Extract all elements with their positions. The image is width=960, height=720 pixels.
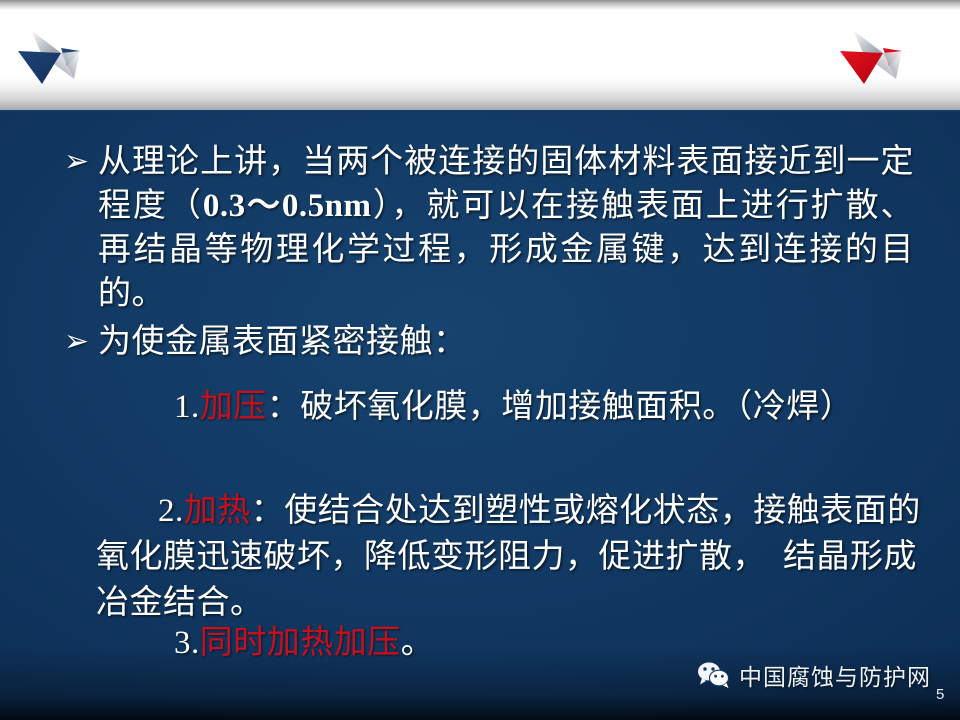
numbered-item-1: 1.加压：破坏氧化膜，增加接触面积。（冷焊） bbox=[96, 384, 926, 430]
bullet-arrow-icon: ➢ bbox=[64, 140, 98, 184]
numbered-item-3-body: 。 bbox=[401, 625, 435, 661]
page-number: 5 bbox=[936, 686, 944, 703]
numbered-item-2-number: 2. bbox=[158, 493, 184, 529]
watermark-label: 中国腐蚀与防护网 bbox=[739, 658, 931, 692]
numbered-item-3-keyword: 同时加热加压 bbox=[200, 625, 401, 661]
bullet-paragraph-2: ➢ 为使金属表面紧密接触： bbox=[64, 320, 914, 364]
wechat-icon bbox=[697, 661, 731, 689]
numbered-item-1-number: 1. bbox=[174, 389, 200, 425]
navy-blue-arrow-logo bbox=[14, 22, 100, 94]
slide-header-band bbox=[0, 0, 960, 112]
numbered-item-3-number: 3. bbox=[174, 625, 200, 661]
numbered-item-3: 3.同时加热加压。 bbox=[96, 620, 696, 666]
watermark: 中国腐蚀与防护网 bbox=[697, 658, 931, 692]
bullet-1-measurement: 0.3～0.5nm bbox=[203, 188, 372, 224]
numbered-item-1-body: ：破坏氧化膜，增加接触面积。（冷焊） bbox=[267, 389, 854, 425]
numbered-item-1-keyword: 加压 bbox=[200, 389, 267, 425]
bullet-arrow-icon: ➢ bbox=[64, 320, 98, 364]
bullet-paragraph-2-text: 为使金属表面紧密接触： bbox=[98, 320, 467, 364]
bullet-paragraph-1-text: 从理论上讲，当两个被连接的固体材料表面接近到一定程度（0.3～0.5nm），就可… bbox=[98, 140, 914, 316]
slide-content: ➢ 从理论上讲，当两个被连接的固体材料表面接近到一定程度（0.3～0.5nm），… bbox=[0, 112, 960, 720]
numbered-item-2-keyword: 加热 bbox=[184, 493, 251, 529]
red-arrow-logo bbox=[836, 22, 922, 94]
numbered-item-2: 2.加热：使结合处达到塑性或熔化状态，接触表面的氧化膜迅速破坏，降低变形阻力，促… bbox=[96, 488, 934, 626]
bullet-paragraph-1: ➢ 从理论上讲，当两个被连接的固体材料表面接近到一定程度（0.3～0.5nm），… bbox=[64, 140, 914, 316]
presentation-slide: ➢ 从理论上讲，当两个被连接的固体材料表面接近到一定程度（0.3～0.5nm），… bbox=[0, 0, 960, 720]
